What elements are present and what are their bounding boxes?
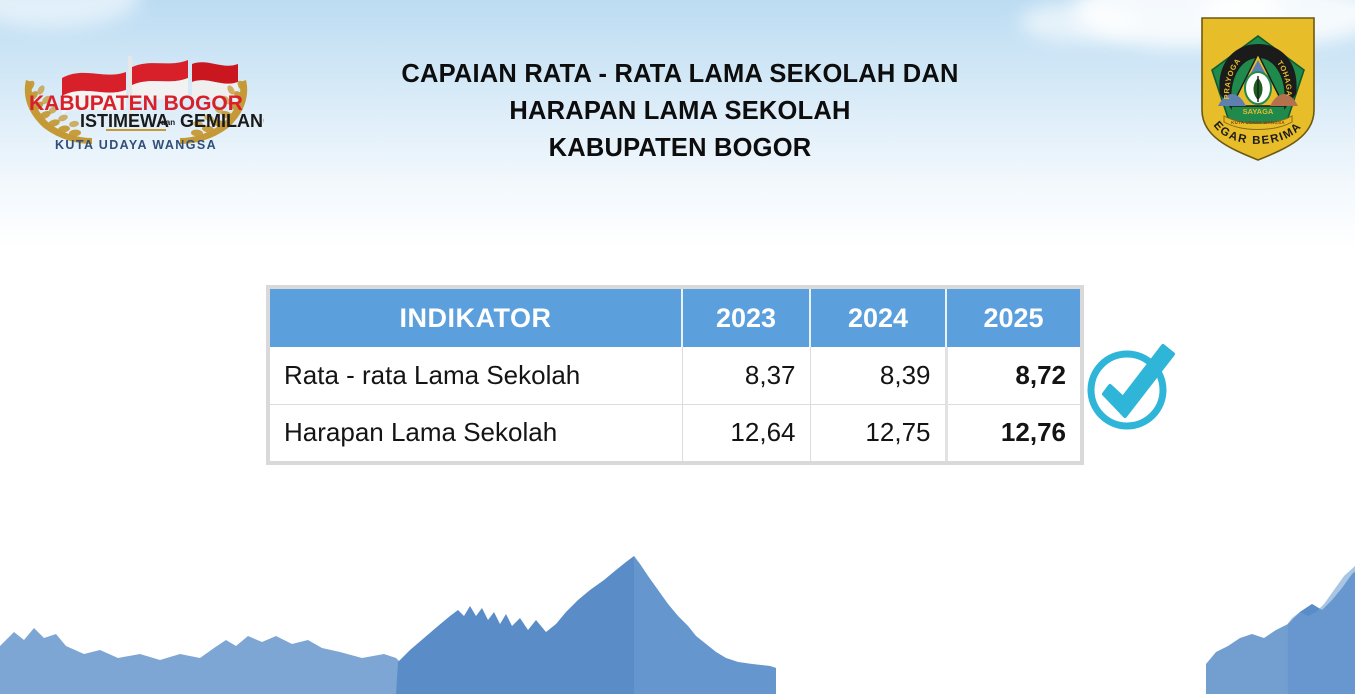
logo-sub-istimewa-text: ISTIMEWA [80, 111, 169, 131]
cell-value-2023: 12,64 [682, 404, 810, 461]
table-row: Harapan Lama Sekolah 12,64 12,75 12,76 [270, 404, 1080, 461]
cell-value-2025: 8,72 [946, 347, 1080, 404]
slide-canvas: KABUPATEN BOGOR ISTIMEWA dan GEMILANG KU… [0, 0, 1355, 694]
page-title-line-3: KABUPATEN BOGOR [280, 130, 1080, 167]
emblem-word-sayaga-text: SAYAGA [1243, 107, 1274, 116]
table-header-row: INDIKATOR 2023 2024 2025 [270, 289, 1080, 347]
mountain-silhouette-footer [0, 554, 1355, 694]
logo-tagline-text: KUTA UDAYA WANGSA [55, 138, 217, 152]
cell-indikator: Harapan Lama Sekolah [270, 404, 682, 461]
page-title-line-1: CAPAIAN RATA - RATA LAMA SEKOLAH DAN [280, 56, 1080, 93]
emblem-ribbon-text: KUTA UDAYA WANGSA [1231, 120, 1285, 125]
cell-value-2024: 8,39 [810, 347, 946, 404]
cell-value-2024: 12,75 [810, 404, 946, 461]
check-mark-highlight [1080, 336, 1180, 436]
column-header-2024: 2024 [810, 289, 946, 347]
cell-indikator: Rata - rata Lama Sekolah [270, 347, 682, 404]
logo-sub-gemilang-text: GEMILANG [180, 111, 264, 131]
page-title: CAPAIAN RATA - RATA LAMA SEKOLAH DAN HAR… [280, 56, 1080, 167]
cloud-decoration [1020, 2, 1140, 42]
logo-sub-dan-text: dan [161, 118, 175, 127]
cell-value-2023: 8,37 [682, 347, 810, 404]
kabupaten-bogor-branding-logo: KABUPATEN BOGOR ISTIMEWA dan GEMILANG KU… [8, 28, 264, 156]
indicator-table: INDIKATOR 2023 2024 2025 Rata - rata Lam… [270, 289, 1080, 461]
kabupaten-bogor-coat-of-arms: TEGAR BERIMAN PRAYOGA TOHAGA SAYAGA KUTA… [1196, 14, 1320, 162]
page-title-line-2: HARAPAN LAMA SEKOLAH [280, 93, 1080, 130]
column-header-indikator: INDIKATOR [270, 289, 682, 347]
table-header: INDIKATOR 2023 2024 2025 [270, 289, 1080, 347]
table-body: Rata - rata Lama Sekolah 8,37 8,39 8,72 … [270, 347, 1080, 461]
table-row: Rata - rata Lama Sekolah 8,37 8,39 8,72 [270, 347, 1080, 404]
column-header-2025: 2025 [946, 289, 1080, 347]
indicator-table-container: INDIKATOR 2023 2024 2025 Rata - rata Lam… [266, 285, 1084, 465]
column-header-2023: 2023 [682, 289, 810, 347]
cell-value-2025: 12,76 [946, 404, 1080, 461]
